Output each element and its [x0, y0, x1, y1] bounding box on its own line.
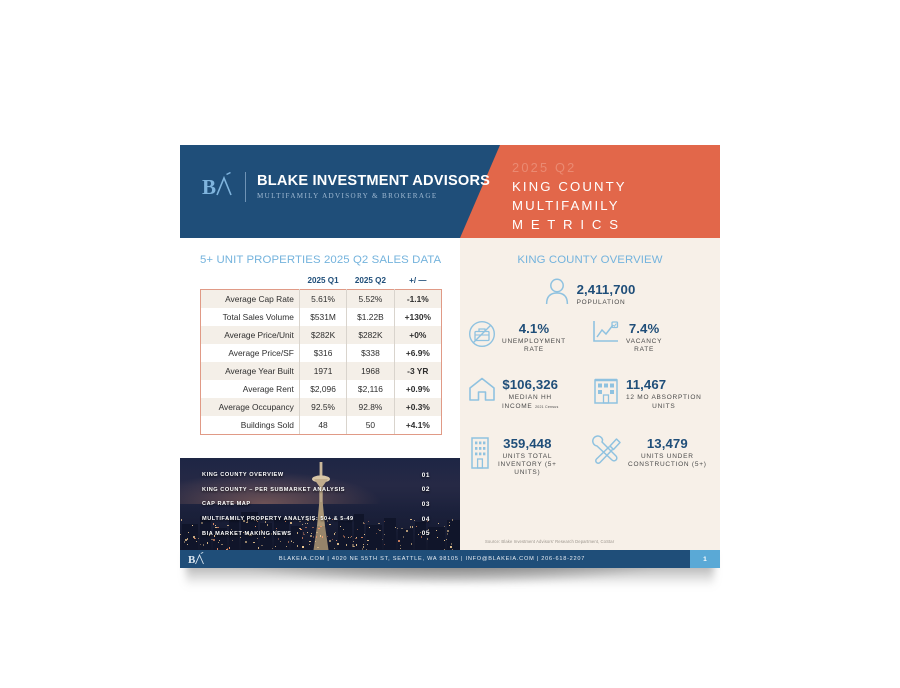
line-chart-icon [592, 320, 620, 349]
cell-q2: $338 [347, 344, 394, 362]
unemployment-text: 4.1% UNEMPLOYMENT RATE [502, 320, 566, 354]
cell-q2: 50 [347, 416, 394, 434]
under-construction-label-1: UNITS UNDER [628, 453, 707, 461]
county-overview-source: Source: Blake Investment Advisors' Resea… [485, 539, 614, 544]
cell-metric: Average Occupancy [201, 398, 300, 416]
contents-nav-number: 04 [422, 516, 442, 523]
table-row: Average Cap Rate5.61%5.52%-1.1% [201, 290, 442, 308]
cell-q1: $531M [299, 308, 346, 326]
footer-ba-monogram-icon: B [188, 552, 206, 566]
vacancy-text: 7.4% VACANCY RATE [626, 320, 662, 354]
population-text: 2,411,700 POPULATION [577, 281, 636, 307]
report-quarter: 2025 Q2 [512, 159, 712, 177]
table-row: Average Year Built19711968-3 YR [201, 362, 442, 380]
median-income-label-1: MEDIAN HH [502, 394, 558, 402]
page-number-badge: 1 [690, 550, 720, 568]
cell-q1: $2,096 [299, 380, 346, 398]
metric-population: 2,411,700 POPULATION [460, 278, 720, 310]
report-title-line-2: MULTIFAMILY [512, 196, 712, 215]
col-header-delta: +/ — [394, 276, 441, 290]
table-row: Average Price/Unit$282K$282K+0% [201, 326, 442, 344]
metrics-row-1: 4.1% UNEMPLOYMENT RATE [468, 320, 712, 354]
inventory-label-1: UNITS TOTAL [498, 453, 557, 461]
cell-metric: Average Price/Unit [201, 326, 300, 344]
median-income-text: $106,326 MEDIAN HH INCOME 2021 Census [502, 376, 558, 410]
logo-divider [245, 172, 246, 202]
cell-metric: Average Year Built [201, 362, 300, 380]
col-header-q2: 2025 Q2 [347, 276, 394, 290]
contents-nav-list: KING COUNTY OVERVIEW01KING COUNTY – PER … [202, 468, 442, 541]
metric-median-income: $106,326 MEDIAN HH INCOME 2021 Census [468, 376, 588, 410]
contents-nav-label: CAP RATE MAP [202, 501, 251, 507]
contents-nav-number: 03 [422, 501, 442, 508]
contents-nav-block: KING COUNTY OVERVIEW01KING COUNTY – PER … [180, 458, 460, 550]
cell-metric: Buildings Sold [201, 416, 300, 434]
brand-logo[interactable]: B BLAKE INVESTMENT ADVISORS MULTIFAMILY … [202, 172, 490, 202]
absorption-label-1: 12 MO ABSORPTION [626, 394, 702, 402]
unemployment-label-2: RATE [502, 346, 566, 354]
cell-metric: Average Cap Rate [201, 290, 300, 308]
sales-data-table: 2025 Q1 2025 Q2 +/ — Average Cap Rate5.6… [200, 276, 442, 435]
cell-q2: 92.8% [347, 398, 394, 416]
absorption-label-2: UNITS [626, 403, 702, 411]
inventory-label-2: INVENTORY (5+ [498, 461, 557, 469]
metric-vacancy: 7.4% VACANCY RATE [588, 320, 712, 354]
cell-q2: $282K [347, 326, 394, 344]
cell-q2: 1968 [347, 362, 394, 380]
contents-nav-label: BIA MARKET MAKING NEWS [202, 531, 292, 537]
contents-nav-item[interactable]: KING COUNTY – PER SUBMARKET ANALYSIS02 [202, 483, 442, 498]
cell-delta: +0.9% [394, 380, 441, 398]
metrics-row-3: 359,448 UNITS TOTAL INVENTORY (5+ UNITS) [468, 435, 712, 478]
report-title-line-1: KING COUNTY [512, 177, 712, 196]
person-icon [545, 278, 569, 310]
vacancy-value: 7.4% [626, 322, 662, 336]
company-tagline: MULTIFAMILY ADVISORY & BROKERAGE [257, 192, 490, 200]
sales-data-panel: 5+ UNIT PROPERTIES 2025 Q2 SALES DATA 20… [180, 238, 460, 550]
col-header-metric [201, 276, 300, 290]
median-income-note: 2021 Census [535, 405, 558, 409]
tools-wrench-hammer-icon [592, 435, 622, 470]
metric-under-construction: 13,479 UNITS UNDER CONSTRUCTION (5+) [588, 435, 712, 478]
house-icon [468, 376, 496, 407]
cell-q1: $316 [299, 344, 346, 362]
page-body: 5+ UNIT PROPERTIES 2025 Q2 SALES DATA 20… [180, 238, 720, 550]
table-header-row: 2025 Q1 2025 Q2 +/ — [201, 276, 442, 290]
metric-absorption: 11,467 12 MO ABSORPTION UNITS [588, 376, 712, 410]
page-header: B BLAKE INVESTMENT ADVISORS MULTIFAMILY … [180, 145, 720, 238]
contents-nav-label: KING COUNTY OVERVIEW [202, 472, 284, 478]
cell-q1: $282K [299, 326, 346, 344]
contents-nav-number: 05 [422, 530, 442, 537]
median-income-value: $106,326 [502, 378, 558, 392]
screenshot-canvas: B BLAKE INVESTMENT ADVISORS MULTIFAMILY … [0, 0, 900, 688]
contents-nav-item[interactable]: CAP RATE MAP03 [202, 497, 442, 512]
company-name: BLAKE INVESTMENT ADVISORS [257, 174, 490, 189]
report-title-block: 2025 Q2 KING COUNTY MULTIFAMILY M E T R … [512, 159, 712, 235]
vacancy-label-2: RATE [626, 346, 662, 354]
contents-nav-item[interactable]: BIA MARKET MAKING NEWS05 [202, 526, 442, 541]
svg-text:B: B [188, 554, 196, 566]
unemployment-label-1: UNEMPLOYMENT [502, 338, 566, 346]
contents-nav-item[interactable]: KING COUNTY OVERVIEW01 [202, 468, 442, 483]
cell-delta: -3 YR [394, 362, 441, 380]
county-overview-panel: KING COUNTY OVERVIEW 2,411,700 POPULATIO… [460, 238, 720, 550]
median-income-label-2: INCOME 2021 Census [502, 403, 558, 411]
unemployment-value: 4.1% [502, 322, 566, 336]
cell-metric: Total Sales Volume [201, 308, 300, 326]
county-overview-title: KING COUNTY OVERVIEW [460, 254, 720, 266]
cell-delta: -1.1% [394, 290, 441, 308]
metric-unemployment: 4.1% UNEMPLOYMENT RATE [468, 320, 588, 354]
table-row: Average Price/SF$316$338+6.9% [201, 344, 442, 362]
contents-nav-label: MULTIFAMILY PROPERTY ANALYSIS: 50+ & 5-4… [202, 516, 354, 522]
cell-delta: +0.3% [394, 398, 441, 416]
table-row: Total Sales Volume$531M$1.22B+130% [201, 308, 442, 326]
page-footer: B BLAKEIA.COM | 4020 NE 55TH ST, SEATTLE… [180, 550, 720, 568]
absorption-value: 11,467 [626, 378, 702, 392]
cell-delta: +130% [394, 308, 441, 326]
cell-q2: $1.22B [347, 308, 394, 326]
office-tower-icon [468, 435, 492, 474]
metrics-row-2: $106,326 MEDIAN HH INCOME 2021 Census [468, 376, 712, 410]
ba-monogram-icon: B [202, 172, 234, 202]
cell-q1: 48 [299, 416, 346, 434]
cell-delta: +6.9% [394, 344, 441, 362]
under-construction-label-2: CONSTRUCTION (5+) [628, 461, 707, 469]
population-value: 2,411,700 [577, 283, 636, 297]
apartment-building-icon [592, 376, 620, 409]
svg-text:B: B [202, 175, 216, 199]
inventory-label-3: UNITS) [498, 469, 557, 477]
population-label: POPULATION [577, 299, 636, 307]
unemployment-briefcase-icon [468, 320, 496, 353]
metric-inventory: 359,448 UNITS TOTAL INVENTORY (5+ UNITS) [468, 435, 588, 478]
cell-metric: Average Rent [201, 380, 300, 398]
metrics-grid: 4.1% UNEMPLOYMENT RATE [468, 320, 712, 478]
contents-nav-item[interactable]: MULTIFAMILY PROPERTY ANALYSIS: 50+ & 5-4… [202, 512, 442, 527]
cell-q1: 5.61% [299, 290, 346, 308]
footer-contact-text[interactable]: BLAKEIA.COM | 4020 NE 55TH ST, SEATTLE, … [180, 556, 720, 562]
col-header-q1: 2025 Q1 [299, 276, 346, 290]
report-page: B BLAKE INVESTMENT ADVISORS MULTIFAMILY … [180, 145, 720, 568]
table-row: Buildings Sold4850+4.1% [201, 416, 442, 434]
contents-nav-number: 02 [422, 486, 442, 493]
sales-data-title: 5+ UNIT PROPERTIES 2025 Q2 SALES DATA [200, 254, 441, 266]
under-construction-text: 13,479 UNITS UNDER CONSTRUCTION (5+) [628, 435, 707, 469]
contents-nav-label: KING COUNTY – PER SUBMARKET ANALYSIS [202, 487, 345, 493]
inventory-text: 359,448 UNITS TOTAL INVENTORY (5+ UNITS) [498, 435, 557, 478]
vacancy-label-1: VACANCY [626, 338, 662, 346]
cell-delta: +4.1% [394, 416, 441, 434]
contents-nav-number: 01 [422, 472, 442, 479]
inventory-value: 359,448 [498, 437, 557, 451]
table-row: Average Rent$2,096$2,116+0.9% [201, 380, 442, 398]
cell-q2: $2,116 [347, 380, 394, 398]
cell-metric: Average Price/SF [201, 344, 300, 362]
cell-q2: 5.52% [347, 290, 394, 308]
table-row: Average Occupancy92.5%92.8%+0.3% [201, 398, 442, 416]
brand-text: BLAKE INVESTMENT ADVISORS MULTIFAMILY AD… [257, 174, 490, 199]
absorption-text: 11,467 12 MO ABSORPTION UNITS [626, 376, 702, 410]
cell-q1: 92.5% [299, 398, 346, 416]
report-title-line-3: M E T R I C S [512, 215, 712, 234]
cell-delta: +0% [394, 326, 441, 344]
cell-q1: 1971 [299, 362, 346, 380]
under-construction-value: 13,479 [628, 437, 707, 451]
